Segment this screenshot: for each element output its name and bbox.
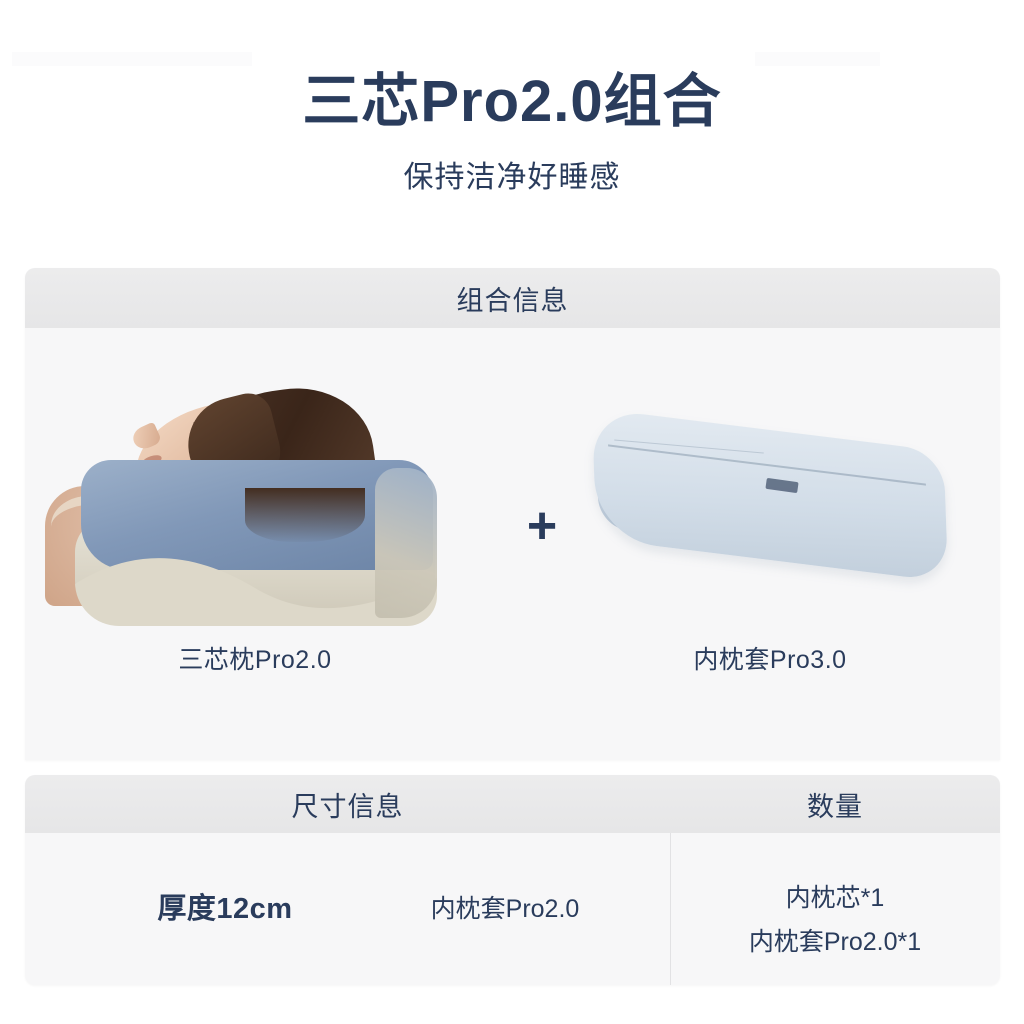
cell-quantity: 内枕芯*1 内枕套Pro2.0*1 bbox=[670, 877, 1000, 965]
quantity-line-1: 内枕芯*1 bbox=[786, 877, 885, 921]
product-item-cover[interactable]: 内枕套Pro3.0 bbox=[560, 368, 980, 676]
combo-info-card: 组合信息 bbox=[25, 268, 1000, 760]
cover-illustration bbox=[560, 368, 980, 638]
pillow-photo bbox=[45, 368, 465, 638]
pillow-right-edge bbox=[375, 468, 437, 618]
quantity-line-2: 内枕套Pro2.0*1 bbox=[749, 921, 921, 965]
spec-table-header: 尺寸信息 数量 bbox=[25, 775, 1000, 833]
cover-top-panel bbox=[592, 408, 948, 582]
spec-table-body: 厚度12cm 内枕套Pro2.0 内枕芯*1 内枕套Pro2.0*1 bbox=[25, 833, 1000, 985]
page-heading: 三芯Pro2.0组合 保持洁净好睡感 bbox=[0, 70, 1024, 196]
product-item-pillow[interactable]: 三芯枕Pro2.0 bbox=[45, 368, 465, 676]
combo-section-header: 组合信息 bbox=[25, 268, 1000, 328]
page-subtitle: 保持洁净好睡感 bbox=[0, 152, 1024, 196]
product-name-pillow: 三芯枕Pro2.0 bbox=[45, 640, 465, 676]
cell-thickness: 厚度12cm bbox=[80, 885, 370, 927]
combo-section-body: 三芯枕Pro2.0 + 内枕套Pro3.0 bbox=[25, 328, 1000, 760]
column-header-size: 尺寸信息 bbox=[25, 775, 670, 833]
product-row: 三芯枕Pro2.0 + 内枕套Pro3.0 bbox=[25, 328, 1000, 760]
pillow-illustration bbox=[45, 368, 465, 638]
cover-photo bbox=[560, 368, 980, 638]
top-placeholder-block-right bbox=[755, 52, 880, 66]
product-detail-page: 三芯Pro2.0组合 保持洁净好睡感 组合信息 bbox=[0, 0, 1024, 1024]
spec-table-card: 尺寸信息 数量 厚度12cm 内枕套Pro2.0 内枕芯*1 内枕套Pro2.0… bbox=[25, 775, 1000, 985]
cell-cover-model: 内枕套Pro2.0 bbox=[355, 889, 655, 925]
model-hair-tips bbox=[245, 488, 365, 542]
column-header-quantity: 数量 bbox=[670, 775, 1000, 833]
page-title: 三芯Pro2.0组合 bbox=[0, 70, 1024, 134]
product-name-cover: 内枕套Pro3.0 bbox=[560, 640, 980, 676]
combo-section-title: 组合信息 bbox=[457, 279, 569, 318]
top-placeholder-block-left bbox=[12, 52, 252, 66]
